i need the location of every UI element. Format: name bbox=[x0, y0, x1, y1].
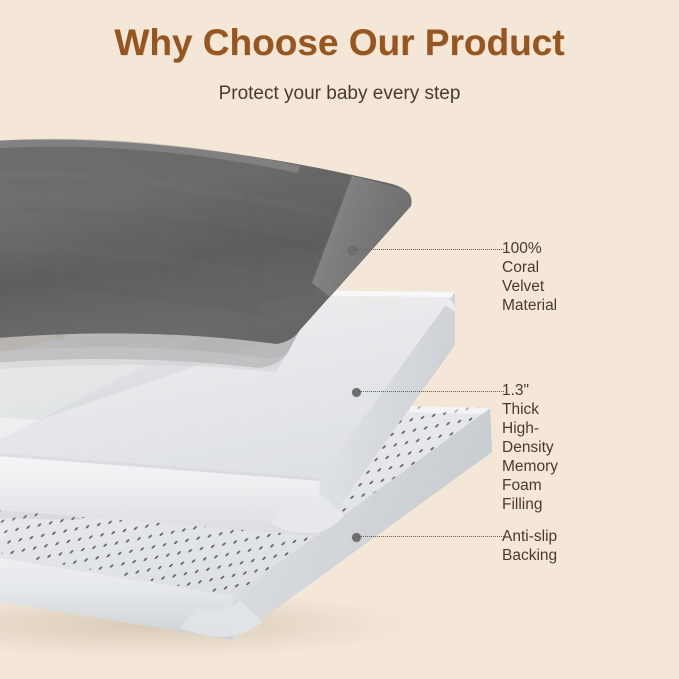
callout-dot-icon bbox=[352, 533, 361, 542]
header: Why Choose Our Product Protect your baby… bbox=[0, 0, 679, 105]
page-subtitle: Protect your baby every step bbox=[0, 64, 679, 105]
callout-leader-line bbox=[358, 391, 504, 392]
callout-label-anti-slip: Anti-slip Backing bbox=[502, 527, 557, 565]
callout-label-coral-velvet: 100% Coral Velvet Material bbox=[502, 239, 557, 315]
callout-leader-line bbox=[358, 536, 504, 537]
infographic-canvas: Why Choose Our Product Protect your baby… bbox=[0, 0, 679, 679]
page-title: Why Choose Our Product bbox=[0, 0, 679, 64]
callout-leader-line bbox=[354, 249, 504, 250]
callout-dot-icon bbox=[348, 246, 357, 255]
callout-label-memory-foam: 1.3" Thick High-Density Memory Foam Fill… bbox=[502, 381, 558, 514]
callout-dot-icon bbox=[352, 388, 361, 397]
